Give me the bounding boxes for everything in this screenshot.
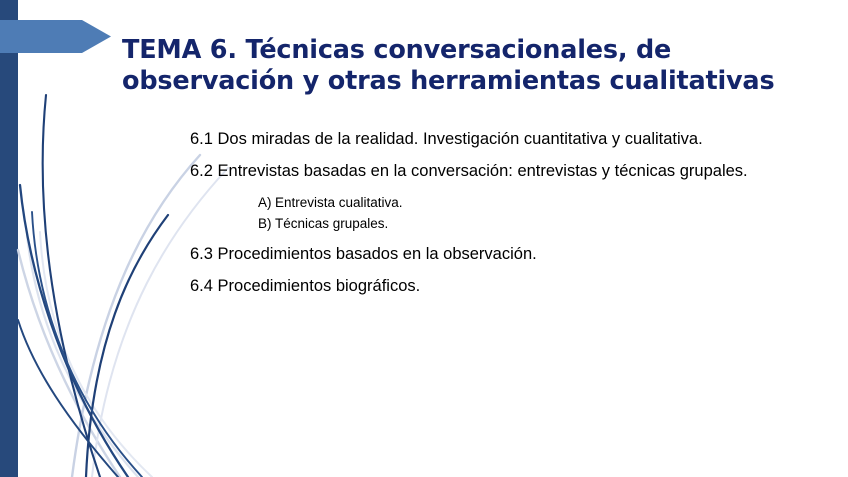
banner-arrow-shape (0, 20, 111, 53)
outline-item-6-1: 6.1 Dos miradas de la realidad. Investig… (190, 128, 786, 151)
sub-item-b-label: Técnicas grupales. (275, 216, 388, 231)
sub-item-a-marker: A) (258, 192, 275, 213)
title-line-1: TEMA 6. Técnicas conversacionales, de (122, 35, 671, 65)
outline-item-6-4: 6.4 Procedimientos biográficos. (190, 275, 786, 298)
sub-item-a-label: Entrevista cualitativa. (275, 195, 403, 210)
sub-item-b-marker: B) (258, 213, 275, 234)
presentation-slide: TEMA 6. Técnicas conversacionales, de ob… (0, 0, 848, 477)
page-title: TEMA 6. Técnicas conversacionales, de ob… (122, 35, 838, 97)
sub-item-a: A)Entrevista cualitativa. (258, 192, 786, 213)
slide-content-body: 6.1 Dos miradas de la realidad. Investig… (190, 128, 786, 307)
title-line-2: observación y otras herramientas cualita… (122, 66, 774, 96)
outline-item-6-2: 6.2 Entrevistas basadas en la conversaci… (190, 160, 786, 183)
outline-item-6-3: 6.3 Procedimientos basados en la observa… (190, 243, 786, 266)
left-accent-bar (0, 0, 18, 477)
outline-sublist: A)Entrevista cualitativa. B)Técnicas gru… (190, 192, 786, 234)
sub-item-b: B)Técnicas grupales. (258, 213, 786, 234)
